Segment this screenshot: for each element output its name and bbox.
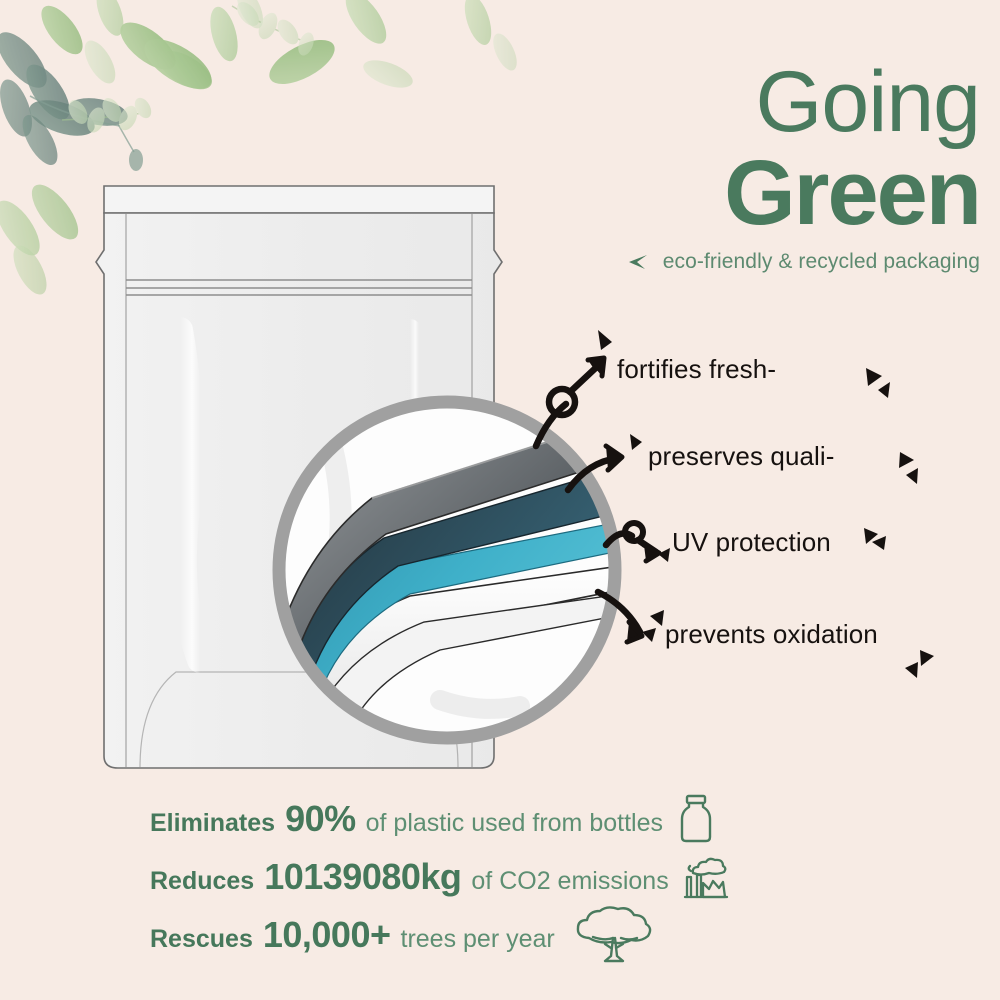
stat-label: Eliminates	[150, 809, 275, 838]
page-title-line2: Green	[560, 148, 980, 238]
factory-emissions-icon	[679, 851, 733, 903]
stat-label: Reduces	[150, 867, 254, 896]
stat-row-plastic: Eliminates 90% of plastic used from bott…	[150, 790, 870, 848]
stat-text: Reduces 10139080kg of CO2 emissions	[150, 856, 669, 898]
stat-value: 10139080kg	[264, 856, 461, 898]
callout-label-preserves: preserves quali-	[648, 441, 835, 472]
infographic-canvas: Going Green eco-friendly & recycled pack…	[0, 0, 1000, 1000]
caret-left-icon	[625, 252, 651, 272]
subtitle: eco-friendly & recycled packaging	[663, 250, 980, 274]
stat-suffix: trees per year	[401, 925, 555, 954]
stat-suffix: of CO2 emissions	[471, 867, 668, 896]
stat-text: Eliminates 90% of plastic used from bott…	[150, 798, 663, 840]
stat-label: Rescues	[150, 925, 253, 954]
callout-label-uv-protection: UV protection	[672, 527, 831, 558]
stat-text: Rescues 10,000+ trees per year	[150, 914, 555, 956]
subtitle-row: eco-friendly & recycled packaging	[560, 250, 980, 274]
stat-row-co2: Reduces 10139080kg of CO2 emissions	[150, 848, 870, 906]
page-title-line1: Going	[560, 62, 980, 144]
stat-suffix: of plastic used from bottles	[366, 809, 663, 838]
statistics-list: Eliminates 90% of plastic used from bott…	[150, 790, 870, 964]
stat-value: 10,000+	[263, 914, 391, 956]
headline-block: Going Green eco-friendly & recycled pack…	[560, 62, 980, 274]
bottle-icon	[673, 793, 719, 845]
stat-value: 90%	[285, 798, 356, 840]
callout-label-prevents-oxidation: prevents oxidation	[665, 619, 878, 650]
stat-row-trees: Rescues 10,000+ trees per year	[150, 906, 870, 964]
callout-label-fortifies: fortifies fresh-	[617, 354, 776, 385]
tree-icon	[565, 904, 661, 966]
